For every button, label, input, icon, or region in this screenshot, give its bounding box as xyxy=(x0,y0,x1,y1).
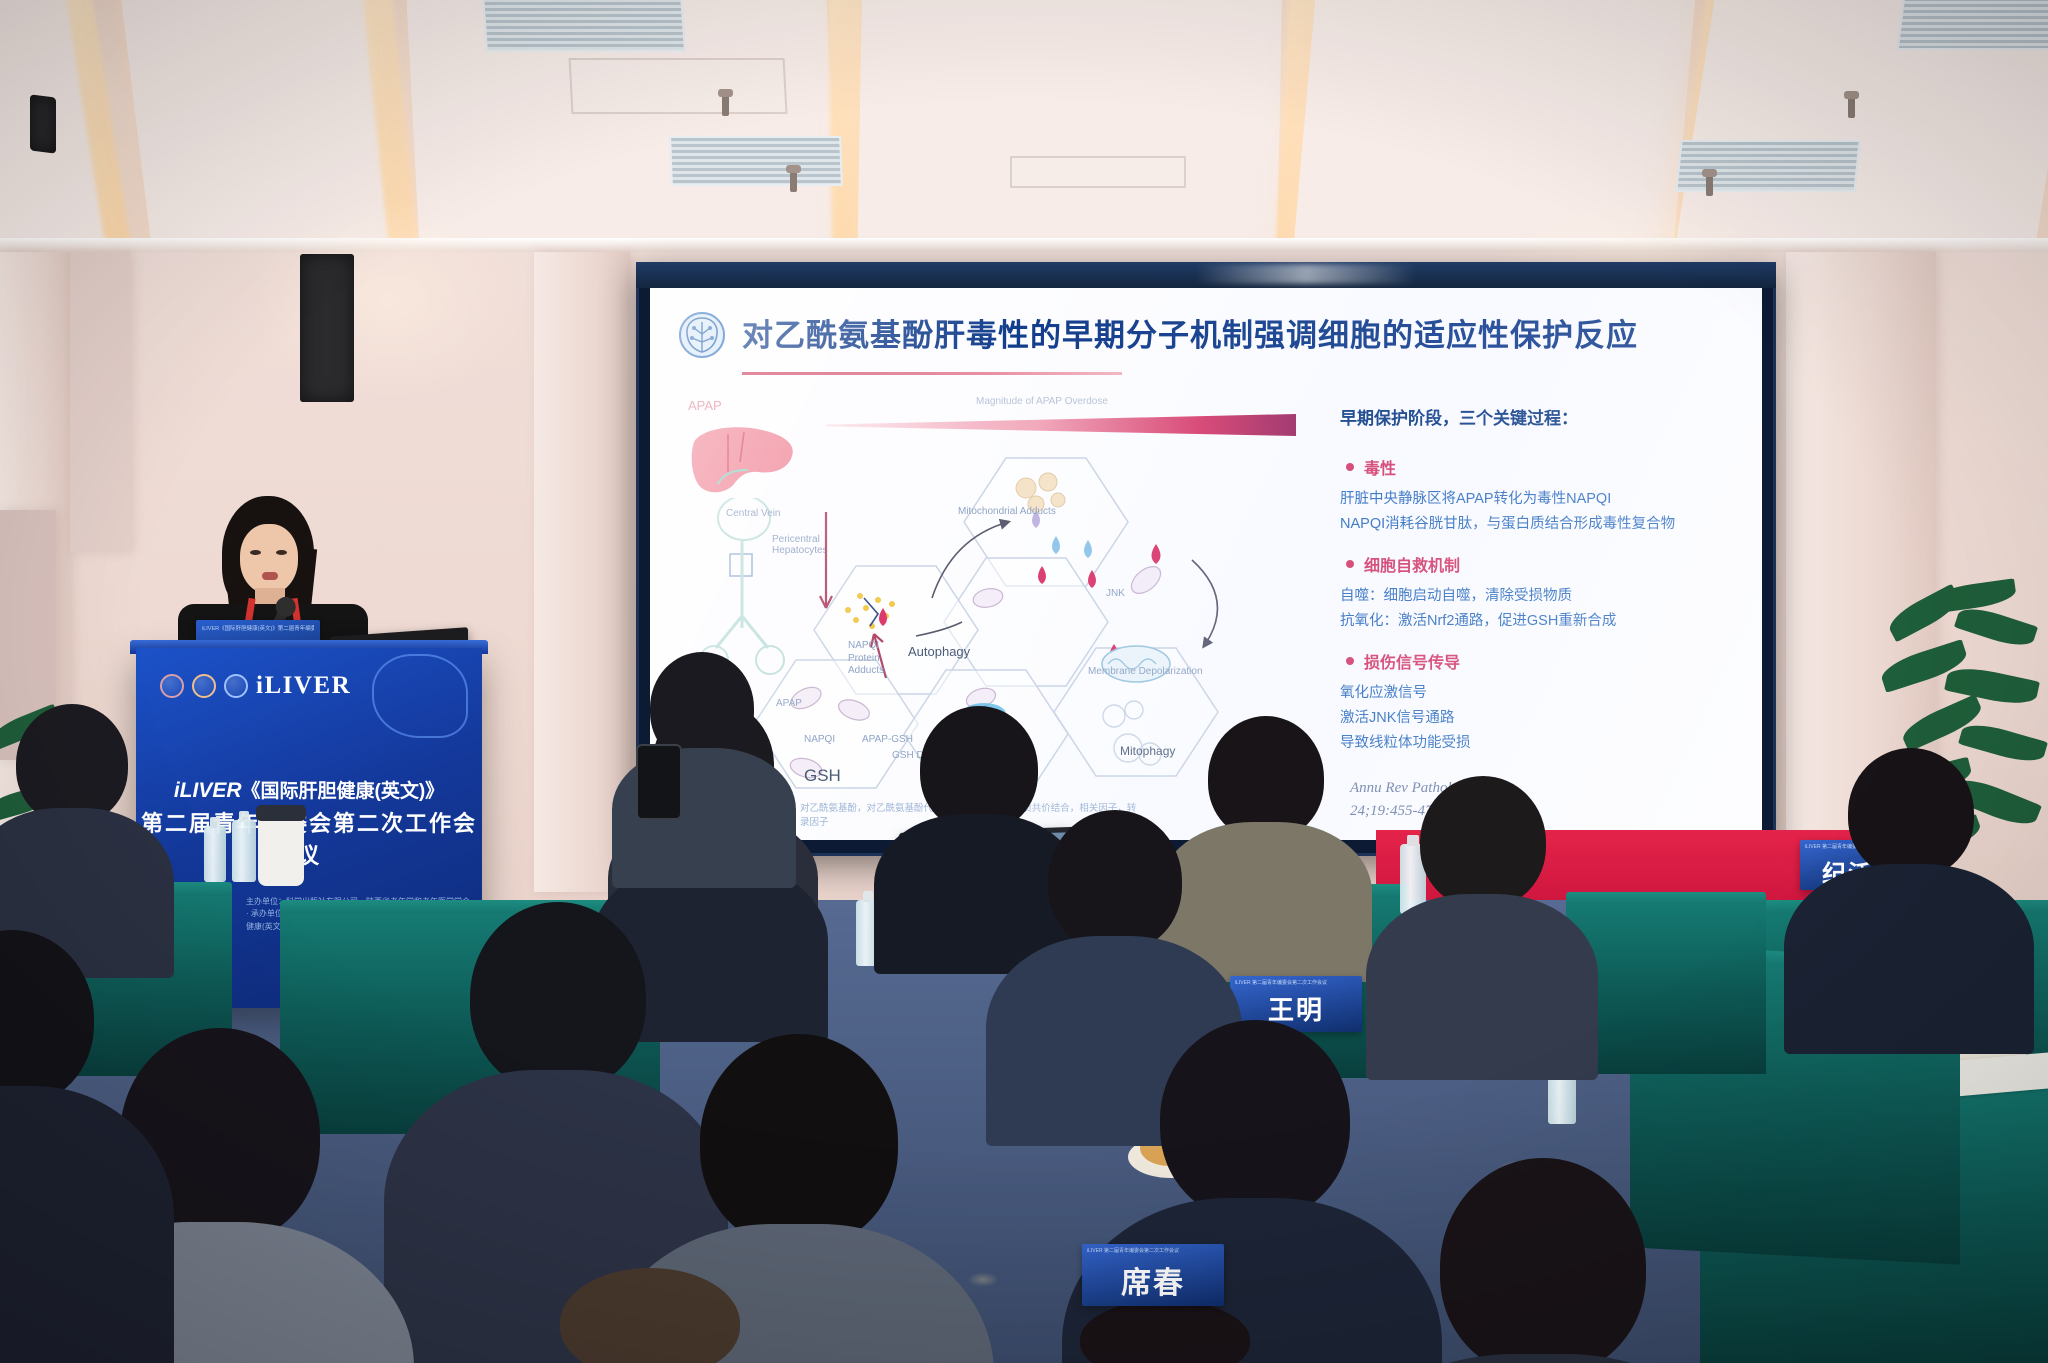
gradient-caption: Magnitude of APAP Overdose xyxy=(976,396,1108,407)
brain-network-logo-icon xyxy=(674,306,730,362)
label-apap: APAP xyxy=(688,398,722,413)
sprinkler-icon xyxy=(1706,174,1713,196)
emblem-purple-icon xyxy=(160,674,184,698)
water-bottle xyxy=(232,820,256,882)
title-divider xyxy=(742,372,1122,375)
sprinkler-icon xyxy=(790,170,797,192)
air-vent-icon xyxy=(482,0,686,52)
bullet-line: 自噬：细胞启动自噬，清除受损物质 xyxy=(1340,584,1740,609)
bullet-dot-icon xyxy=(1346,463,1354,471)
podium-title-cn: 《国际肝胆健康(英文)》 xyxy=(242,781,445,802)
bullet-dot-icon xyxy=(1346,560,1354,568)
liver-outline-icon xyxy=(372,654,468,738)
label-autophagy: Autophagy xyxy=(908,644,970,659)
slide-right-column: 早期保护阶段，三个关键过程： 毒性 肝脏中央静脉区将APAP转化为毒性NAPQI… xyxy=(1340,404,1740,757)
bullet-line: 导致线粒体功能受损 xyxy=(1340,731,1740,756)
pa-speaker-icon xyxy=(300,254,354,402)
bullet-line: 激活JNK信号通路 xyxy=(1340,706,1740,731)
label-mitophagy: Mitophagy xyxy=(1120,744,1175,758)
coffee-cup xyxy=(258,812,304,886)
podium-logo-row: iLIVER xyxy=(160,672,351,700)
podium-title-line-1: iLIVER《国际肝胆健康(英文)》 xyxy=(136,776,482,803)
overdose-gradient-bar xyxy=(826,414,1296,436)
bullet-damage-signal: 损伤信号传导 xyxy=(1346,649,1740,673)
water-bottle xyxy=(204,826,226,882)
ceiling-panel xyxy=(1010,156,1186,188)
label-napqi: NAPQI xyxy=(804,734,835,745)
right-column-lead: 早期保护阶段，三个关键过程： xyxy=(1340,404,1740,429)
nameplate-header: iLIVER 第二届青年编委会第二次工作会议 xyxy=(1087,1247,1220,1256)
label-mitochondrial-adducts: Mitochondrial Adducts xyxy=(958,506,1056,517)
nameplate-xi-chun: iLIVER 第二届青年编委会第二次工作会议 席春 xyxy=(1082,1244,1224,1306)
bullet-heading: 细胞自救机制 xyxy=(1364,552,1460,576)
ceiling-panel xyxy=(569,58,788,114)
sprinkler-icon xyxy=(1848,96,1855,118)
label-gsh: GSH xyxy=(804,766,841,786)
slide-title: 对乙酰氨基酚肝毒性的早期分子机制强调细胞的适应性保护反应 xyxy=(742,310,1738,355)
speaker-face xyxy=(240,524,298,594)
label-apap-cell: APAP xyxy=(776,698,802,709)
bullet-line: 肝脏中央静脉区将APAP转化为毒性NAPQI xyxy=(1340,487,1740,512)
slide-canvas: 对乙酰氨基酚肝毒性的早期分子机制强调细胞的适应性保护反应 Magnitude o… xyxy=(650,288,1762,840)
bullet-heading: 损伤信号传导 xyxy=(1364,649,1460,673)
nameplate-name: 席春 xyxy=(1082,1258,1224,1302)
bullet-self-rescue: 细胞自救机制 xyxy=(1346,552,1740,576)
label-jnk: JNK xyxy=(1106,588,1125,599)
label-napqi-protein-adducts: NAPQI Protein Adducts xyxy=(848,640,898,678)
nameplate-header: iLIVER《国际肝胆健康(英文)》第二届青年编委会第二次工作会议 xyxy=(202,624,314,632)
label-apap-gsh: APAP-GSH xyxy=(862,734,913,745)
screen-bezel xyxy=(636,262,1776,288)
bullet-line: 氧化应激信号 xyxy=(1340,681,1740,706)
conference-room-photo: 对乙酰氨基酚肝毒性的早期分子机制强调细胞的适应性保护反应 Magnitude o… xyxy=(0,0,2048,1363)
wall-light-glow xyxy=(250,200,530,400)
ceiling-speaker-icon xyxy=(30,94,56,153)
air-vent-icon xyxy=(1675,140,1860,192)
sprinkler-icon xyxy=(722,94,729,116)
emblem-blue-icon xyxy=(224,674,248,698)
air-vent-icon xyxy=(669,136,843,186)
podium-title-en: iLIVER xyxy=(174,779,242,802)
podium-brand: iLIVER xyxy=(256,672,351,700)
bullet-line: 抗氧化：激活Nrf2通路，促进GSH重新合成 xyxy=(1340,609,1740,634)
wall-panel-left xyxy=(70,252,130,552)
bullet-heading: 毒性 xyxy=(1364,455,1396,479)
bullet-dot-icon xyxy=(1346,657,1354,665)
bullet-line: NAPQI消耗谷胱甘肽，与蛋白质结合形成毒性复合物 xyxy=(1340,512,1740,537)
presentation-screen: 对乙酰氨基酚肝毒性的早期分子机制强调细胞的适应性保护反应 Magnitude o… xyxy=(636,262,1776,856)
label-membrane-depolarization: Membrane Depolarization xyxy=(1088,666,1203,677)
smartphone xyxy=(636,744,682,820)
emblem-gold-icon xyxy=(192,674,216,698)
bullet-toxicity: 毒性 xyxy=(1346,455,1740,479)
podium-title-line-2: 第二届青年编委会第二次工作会议 xyxy=(136,806,482,870)
air-vent-icon xyxy=(1897,0,2048,50)
nameplate-header: iLIVER 第二届青年编委会第二次工作会议 xyxy=(1235,979,1358,988)
